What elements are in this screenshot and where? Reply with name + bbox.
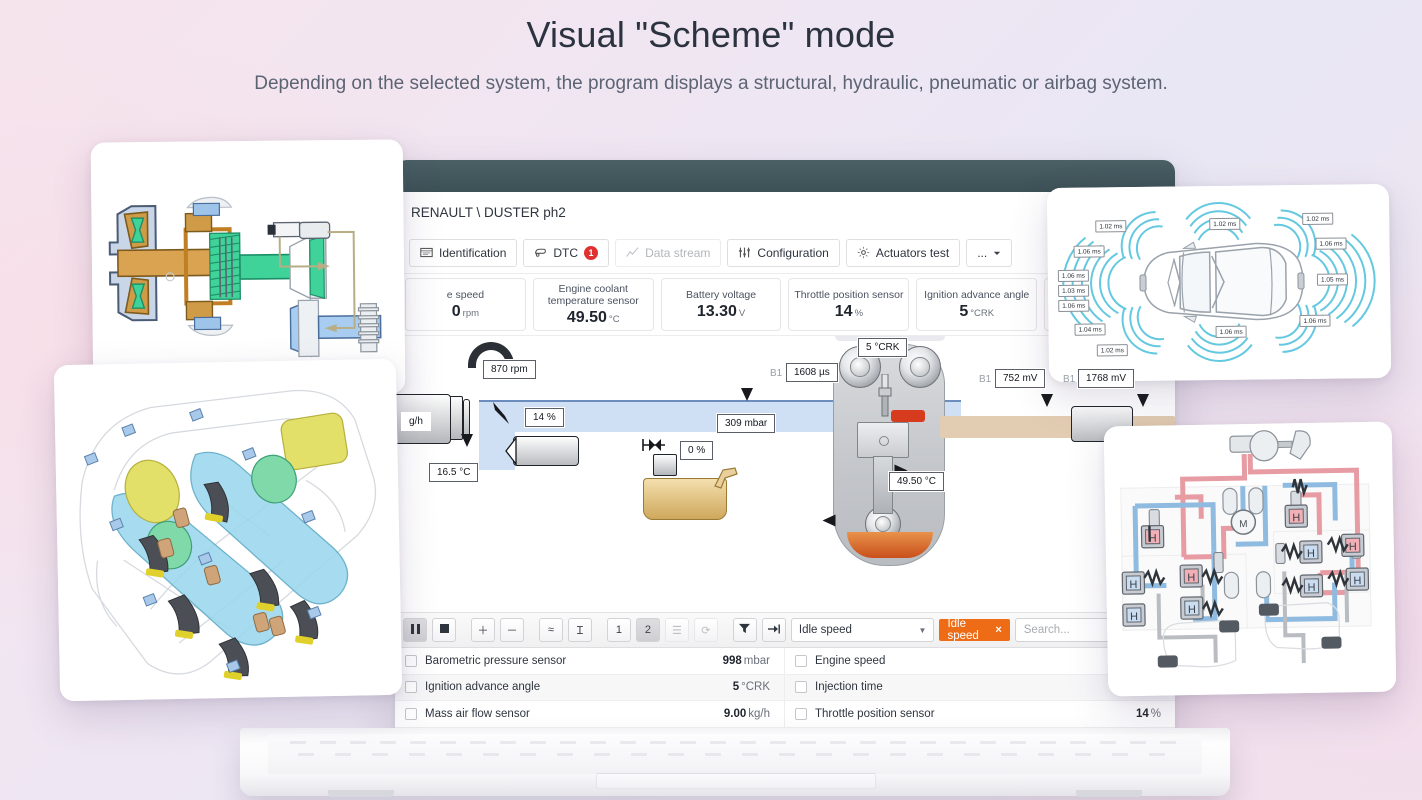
row-checkbox[interactable] bbox=[795, 708, 807, 720]
parking-sensor-tag[interactable]: 1.04 ms bbox=[1074, 323, 1105, 335]
parking-sensor-tag[interactable]: 1.02 ms bbox=[1209, 218, 1240, 230]
table-row[interactable]: Mass air flow sensor 9.00kg/h Throttle p… bbox=[395, 701, 1175, 728]
table-row[interactable]: Ignition advance angle 5°CRK Injection t… bbox=[395, 675, 1175, 702]
parking-sensor-tag[interactable]: 1.06 ms bbox=[1058, 270, 1089, 282]
i-beam-icon: Ɪ bbox=[577, 623, 583, 638]
row-checkbox[interactable] bbox=[405, 681, 417, 693]
parameter-value: 49.50°C bbox=[567, 309, 620, 327]
card-gearbox[interactable] bbox=[91, 139, 406, 396]
filter-button[interactable] bbox=[733, 618, 757, 642]
laptop-base bbox=[240, 728, 1230, 796]
parking-sensor-tag[interactable]: 1.06 ms bbox=[1074, 245, 1105, 257]
svg-text:M: M bbox=[1239, 519, 1248, 530]
column-2-button[interactable]: 2 bbox=[636, 618, 660, 642]
row-checkbox[interactable] bbox=[405, 708, 417, 720]
card-airbag[interactable] bbox=[54, 359, 402, 702]
id-card-icon bbox=[420, 246, 433, 259]
oil-pan bbox=[847, 532, 933, 558]
tab-label: Actuators test bbox=[876, 246, 949, 260]
parking-sensor-tag[interactable]: 1.02 ms bbox=[1097, 344, 1128, 356]
throttle-position-tag[interactable]: 14 % bbox=[525, 408, 564, 427]
downstream-o2-prefix: B1 bbox=[1063, 374, 1075, 385]
laptop-foot-left bbox=[328, 790, 394, 797]
parking-sensor-tag[interactable]: 1.06 ms bbox=[1058, 300, 1089, 312]
spark-icon bbox=[857, 246, 870, 259]
list-icon: ☰ bbox=[672, 624, 682, 637]
data-stream-table: Barometric pressure sensor 998mbar Engin… bbox=[395, 648, 1175, 732]
trackpad[interactable] bbox=[596, 773, 876, 789]
add-button[interactable]: ＋ bbox=[471, 618, 495, 642]
parking-sensor-tag[interactable]: 1.06 ms bbox=[1315, 237, 1346, 249]
select-all-button[interactable]: Ɪ bbox=[568, 618, 592, 642]
group-select[interactable]: Idle speed ▼ bbox=[791, 618, 935, 642]
card-parking[interactable]: 1.02 ms 1.02 ms 1.02 ms 1.06 ms 1.06 ms … bbox=[1047, 184, 1391, 382]
page-subtitle: Depending on the selected system, the pr… bbox=[0, 70, 1422, 98]
column-1-label: 1 bbox=[616, 624, 622, 636]
parameter-unit: rpm bbox=[463, 308, 479, 319]
parameter-unit: % bbox=[855, 308, 863, 319]
downstream-o2-tag[interactable]: 1768 mV bbox=[1078, 369, 1134, 388]
page-header: Visual "Scheme" mode Depending on the se… bbox=[0, 14, 1422, 98]
engine-speed-tag[interactable]: 870 rpm bbox=[483, 360, 536, 379]
tab-data-stream[interactable]: Data stream bbox=[615, 239, 721, 267]
svg-text:H: H bbox=[1292, 512, 1300, 524]
data-stream-toolbar: ＋ － ≈ Ɪ 1 2 ☰ ⟳ Idle speed ▼ Idle speed … bbox=[395, 612, 1175, 648]
card-hydraulic[interactable]: M H H H H H H H H H H bbox=[1104, 422, 1397, 697]
parameter-label: Battery voltage bbox=[686, 289, 756, 301]
svg-text:H: H bbox=[1188, 604, 1196, 616]
list-button[interactable]: ☰ bbox=[665, 618, 689, 642]
parking-sensor-tag[interactable]: 1.03 ms bbox=[1058, 285, 1089, 297]
parameter-unit: °CRK bbox=[741, 681, 770, 693]
upstream-o2-prefix: B1 bbox=[979, 374, 991, 385]
parameter-name: Injection time bbox=[815, 681, 883, 693]
tab-more[interactable]: ... bbox=[966, 239, 1012, 267]
injection-time-tag[interactable]: 1608 µs bbox=[786, 363, 838, 382]
abs-hydraulic-diagram: M H H H H H H H H H H bbox=[1104, 422, 1397, 697]
parameter-value: 5°CRK bbox=[733, 681, 770, 693]
breadcrumb[interactable]: RENAULT \ DUSTER ph2 bbox=[411, 205, 566, 220]
stop-button[interactable] bbox=[432, 618, 456, 642]
parameter-unit: mbar bbox=[744, 655, 770, 667]
tab-dtc[interactable]: DTC 1 bbox=[523, 239, 609, 267]
search-placeholder: Search... bbox=[1024, 624, 1070, 636]
tab-label: Configuration bbox=[757, 246, 828, 260]
parameter-unit: V bbox=[739, 308, 745, 319]
combustion-glow bbox=[891, 410, 925, 422]
plus-icon: ＋ bbox=[477, 622, 488, 638]
fuel-filler-neck bbox=[713, 464, 743, 490]
tab-label: ... bbox=[977, 246, 987, 260]
row-checkbox[interactable] bbox=[795, 655, 807, 667]
dtc-icon bbox=[534, 246, 547, 259]
throttle-plate-icon bbox=[491, 398, 525, 432]
svg-text:H: H bbox=[1307, 548, 1315, 560]
airbag-system-diagram bbox=[54, 359, 402, 702]
parameter-value: 14% bbox=[835, 303, 863, 321]
parameter-label: Ignition advance angle bbox=[924, 289, 1029, 301]
svg-text:H: H bbox=[1349, 541, 1357, 553]
upstream-o2-tag[interactable]: 752 mV bbox=[995, 369, 1045, 388]
svg-text:H: H bbox=[1129, 579, 1137, 591]
export-icon bbox=[768, 624, 780, 637]
parameter-unit: °CRK bbox=[970, 308, 994, 319]
chart-icon bbox=[626, 246, 639, 259]
chip-label: Idle speed bbox=[947, 618, 989, 642]
coolant-temp-tag[interactable]: 49.50 °C bbox=[889, 472, 944, 491]
parameter-card[interactable]: Engine coolant temperature sensor 49.50°… bbox=[533, 278, 654, 331]
parking-sensor-tag[interactable]: 1.06 ms bbox=[1299, 315, 1330, 327]
svg-text:H: H bbox=[1353, 575, 1361, 587]
chevron-down-icon bbox=[993, 246, 1001, 259]
resonator-inlet-icon bbox=[505, 436, 517, 466]
parameter-value: 998mbar bbox=[723, 655, 770, 667]
svg-text:H: H bbox=[1130, 611, 1138, 623]
dtc-count-badge: 1 bbox=[584, 246, 598, 260]
knock-sensor-arrow bbox=[823, 515, 836, 527]
parking-sensor-tag[interactable]: 1.02 ms bbox=[1095, 220, 1126, 232]
laptop-foot-right bbox=[1076, 790, 1142, 797]
parameter-name: Mass air flow sensor bbox=[425, 708, 530, 720]
parameter-card[interactable]: Throttle position sensor 14% bbox=[788, 278, 909, 331]
column-2-label: 2 bbox=[645, 624, 651, 636]
maf-tag[interactable]: g/h bbox=[401, 412, 431, 431]
intake-air-temp-tag[interactable]: 16.5 °C bbox=[429, 463, 478, 482]
parameter-value: 0rpm bbox=[452, 303, 479, 321]
parameter-value: 14% bbox=[1136, 708, 1161, 720]
svg-text:H: H bbox=[1307, 582, 1315, 594]
close-icon[interactable]: × bbox=[995, 624, 1001, 636]
tab-label: Identification bbox=[439, 246, 506, 260]
tab-actuators-test[interactable]: Actuators test bbox=[846, 239, 960, 267]
parameter-value: 13.30V bbox=[697, 303, 745, 321]
table-cell[interactable]: Ignition advance angle 5°CRK bbox=[395, 675, 785, 701]
map-sensor-arrow bbox=[741, 388, 753, 401]
tab-label: DTC bbox=[553, 246, 578, 260]
parameter-unit: kg/h bbox=[748, 708, 770, 720]
refresh-button[interactable]: ⟳ bbox=[694, 618, 718, 642]
table-cell[interactable]: Barometric pressure sensor 998mbar bbox=[395, 648, 785, 674]
manifold-pressure-tag[interactable]: 309 mbar bbox=[717, 414, 775, 433]
iat-sensor-arrow bbox=[461, 434, 473, 447]
parameter-unit: % bbox=[1151, 708, 1161, 720]
export-button[interactable] bbox=[762, 618, 786, 642]
minus-icon: － bbox=[506, 622, 517, 638]
tab-label: Data stream bbox=[645, 246, 710, 260]
tab-identification[interactable]: Identification bbox=[409, 239, 517, 267]
page-title: Visual "Scheme" mode bbox=[0, 14, 1422, 56]
parking-sensor-tag[interactable]: 1.06 ms bbox=[1216, 326, 1247, 338]
remove-button[interactable]: － bbox=[500, 618, 524, 642]
table-cell[interactable]: Throttle position sensor 14% bbox=[785, 701, 1175, 727]
parameter-card[interactable]: e speed 0rpm bbox=[405, 278, 526, 331]
parameter-unit: °C bbox=[609, 314, 620, 325]
pause-icon bbox=[411, 624, 420, 637]
purge-valve-tag[interactable]: 0 % bbox=[680, 441, 713, 460]
tab-configuration[interactable]: Configuration bbox=[727, 239, 839, 267]
parking-sensor-tag[interactable]: 1.02 ms bbox=[1302, 213, 1333, 225]
transmission-cutaway-diagram bbox=[91, 139, 406, 396]
approx-button[interactable]: ≈ bbox=[539, 618, 563, 642]
parameter-label: Engine coolant temperature sensor bbox=[538, 283, 649, 307]
ignition-advance-tag[interactable]: 5 °CRK bbox=[858, 338, 907, 357]
pause-button[interactable] bbox=[403, 618, 427, 642]
parameter-label: Throttle position sensor bbox=[794, 289, 903, 301]
upstream-o2-sensor-arrow bbox=[1041, 394, 1053, 407]
chevron-down-icon: ▼ bbox=[919, 626, 927, 635]
table-cell[interactable]: Mass air flow sensor 9.00kg/h bbox=[395, 701, 785, 727]
row-checkbox[interactable] bbox=[405, 655, 417, 667]
parameter-name: Throttle position sensor bbox=[815, 708, 935, 720]
column-1-button[interactable]: 1 bbox=[607, 618, 631, 642]
purge-valve-icon bbox=[641, 436, 675, 454]
parameter-value: 9.00kg/h bbox=[724, 708, 770, 720]
filter-icon bbox=[739, 623, 750, 637]
parameter-name: Engine speed bbox=[815, 655, 885, 667]
row-checkbox[interactable] bbox=[795, 681, 807, 693]
downstream-o2-sensor-arrow bbox=[1137, 394, 1149, 407]
maf-flange bbox=[463, 399, 470, 437]
parameter-label: e speed bbox=[447, 289, 484, 301]
parameter-name: Barometric pressure sensor bbox=[425, 655, 566, 667]
parameter-value: 5°CRK bbox=[959, 303, 994, 321]
parameter-card[interactable]: Ignition advance angle 5°CRK bbox=[916, 278, 1037, 331]
svg-text:H: H bbox=[1187, 572, 1195, 584]
charcoal-canister bbox=[653, 454, 677, 476]
sliders-icon bbox=[738, 246, 751, 259]
stop-icon bbox=[440, 624, 449, 636]
injection-bank-prefix: B1 bbox=[770, 368, 782, 379]
piston-pin bbox=[879, 436, 889, 446]
parameter-name: Ignition advance angle bbox=[425, 681, 540, 693]
table-row[interactable]: Barometric pressure sensor 998mbar Engin… bbox=[395, 648, 1175, 675]
keyboard-keys bbox=[280, 737, 1190, 767]
intake-resonator bbox=[513, 436, 579, 466]
active-filter-chip[interactable]: Idle speed × bbox=[939, 619, 1009, 641]
group-select-value: Idle speed bbox=[799, 624, 852, 636]
approx-icon: ≈ bbox=[548, 624, 554, 636]
parameter-card[interactable]: Battery voltage 13.30V bbox=[661, 278, 782, 331]
parking-sensor-tag[interactable]: 1.05 ms bbox=[1317, 273, 1348, 285]
refresh-icon: ⟳ bbox=[701, 624, 710, 637]
